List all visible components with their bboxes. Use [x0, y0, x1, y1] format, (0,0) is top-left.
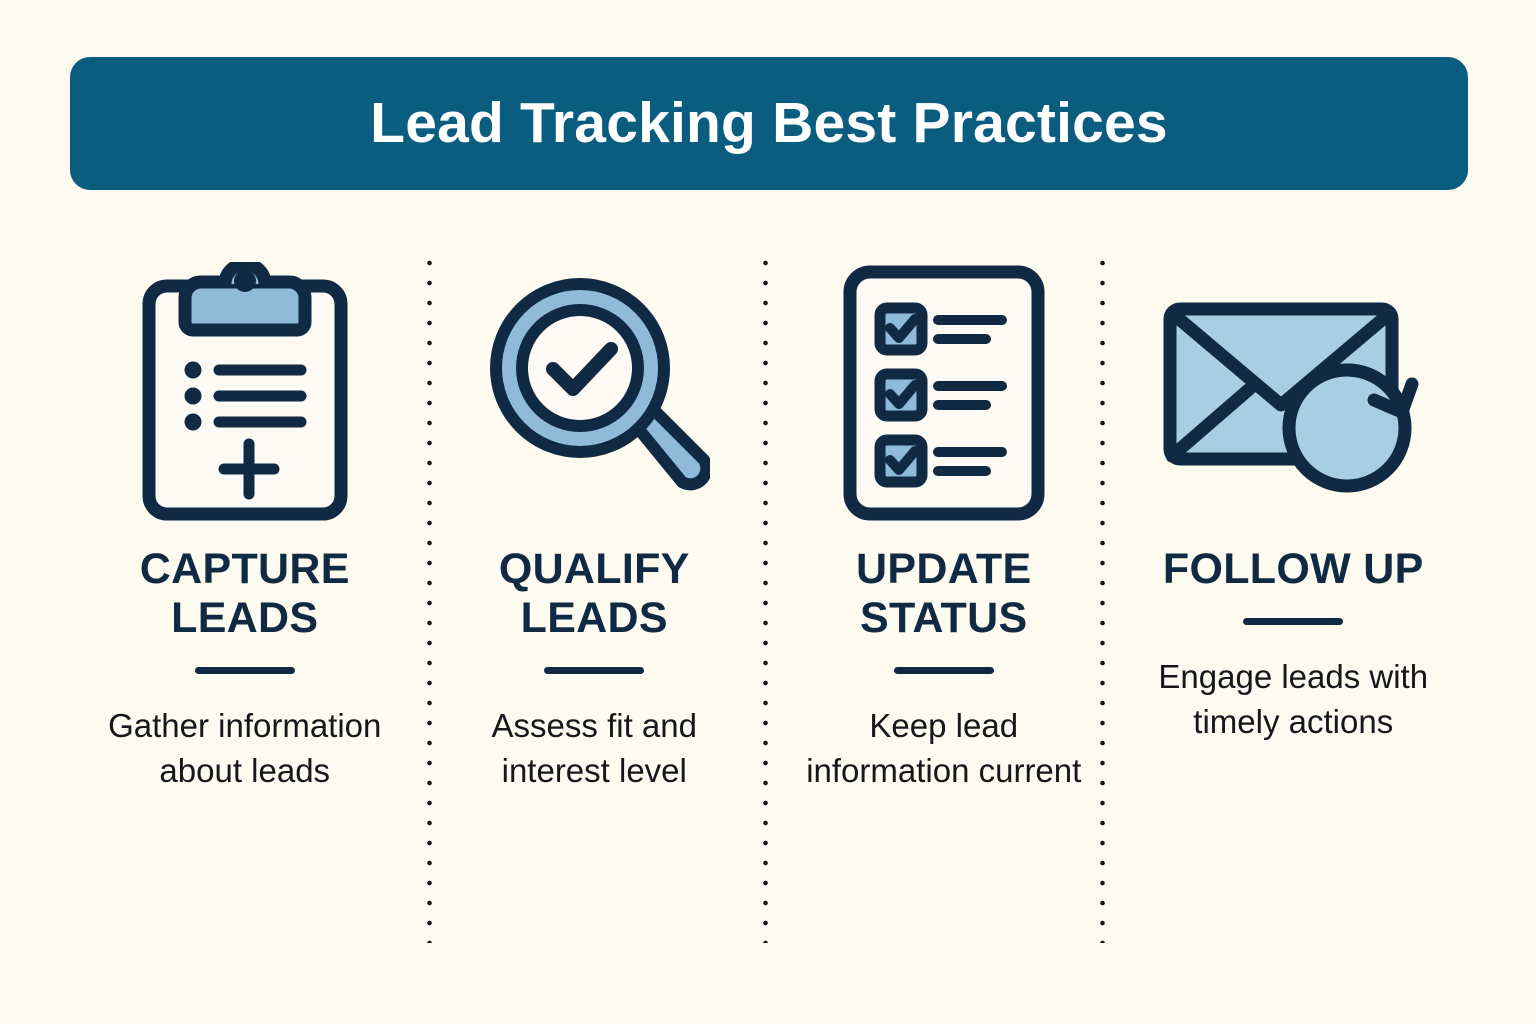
header-banner: Lead Tracking Best Practices: [70, 57, 1468, 190]
step-description: Gather information about leads: [105, 704, 385, 794]
infographic-canvas: Lead Tracking Best Practices: [0, 0, 1536, 1024]
step-column-capture-leads: CAPTURE LEADS Gather information about l…: [70, 250, 420, 950]
step-title: FOLLOW UP: [1163, 545, 1424, 594]
step-title: UPDATE STATUS: [799, 545, 1089, 643]
checklist-document-icon: [783, 250, 1105, 535]
step-description: Engage leads with timely actions: [1153, 655, 1433, 745]
steps-row: CAPTURE LEADS Gather information about l…: [70, 250, 1468, 950]
envelope-refresh-icon: [1133, 250, 1455, 535]
step-column-follow-up: FOLLOW UP Engage leads with timely actio…: [1119, 250, 1469, 950]
step-description: Assess fit and interest level: [454, 704, 734, 794]
title-underline: [1243, 618, 1343, 625]
step-description: Keep lead information current: [804, 704, 1084, 794]
title-underline: [544, 667, 644, 674]
clipboard-plus-icon: [84, 250, 406, 535]
step-title: CAPTURE LEADS: [100, 545, 390, 643]
step-column-update-status: UPDATE STATUS Keep lead information curr…: [769, 250, 1119, 950]
title-underline: [894, 667, 994, 674]
step-title: QUALIFY LEADS: [449, 545, 739, 643]
magnifier-check-icon: [434, 250, 756, 535]
step-column-qualify-leads: QUALIFY LEADS Assess fit and interest le…: [420, 250, 770, 950]
page-title: Lead Tracking Best Practices: [370, 95, 1168, 152]
title-underline: [195, 667, 295, 674]
